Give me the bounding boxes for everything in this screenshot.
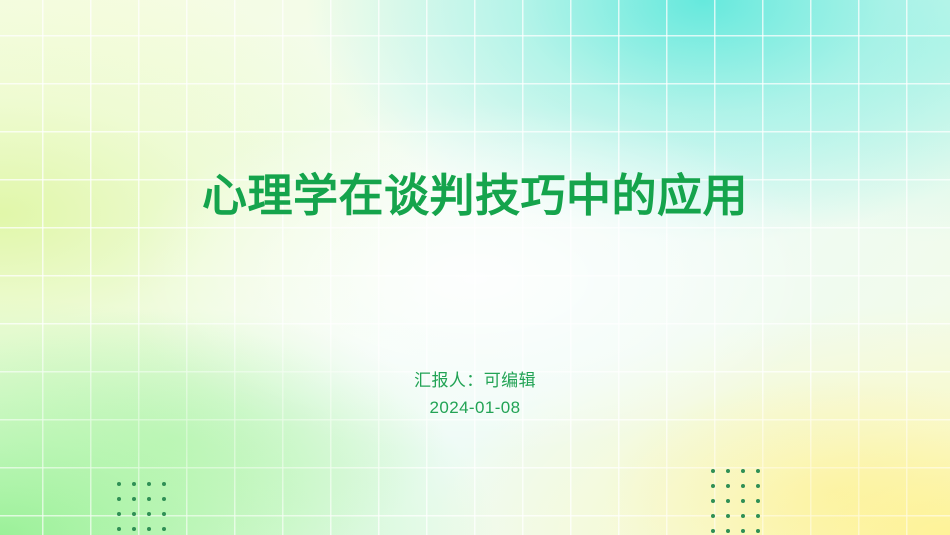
decorative-dot [741,514,745,518]
decorative-dot [147,527,151,531]
decorative-dot [756,484,760,488]
decorative-dot-grid-right [711,469,760,535]
decorative-dot [162,527,166,531]
decorative-dot [132,482,136,486]
decorative-dot [132,527,136,531]
decorative-dot [117,512,121,516]
presentation-title-slide: 心理学在谈判技巧中的应用 汇报人：可编辑 2024-01-08 [0,0,950,535]
decorative-dot [162,482,166,486]
decorative-dot [741,469,745,473]
decorative-dot [726,469,730,473]
decorative-dot [711,484,715,488]
decorative-dot [741,484,745,488]
decorative-dot [162,512,166,516]
decorative-dot [756,469,760,473]
decorative-dot [726,484,730,488]
decorative-dot [726,514,730,518]
decorative-dot [726,529,730,533]
decorative-dot [711,529,715,533]
background-grid-overlay [0,0,950,535]
decorative-dot [147,512,151,516]
decorative-dot [117,497,121,501]
decorative-dot-grid-left [117,482,166,531]
decorative-dot [711,499,715,503]
decorative-dot [756,529,760,533]
decorative-dot [132,497,136,501]
decorative-dot [117,482,121,486]
decorative-dot [756,499,760,503]
decorative-dot [162,497,166,501]
decorative-dot [147,497,151,501]
decorative-dot [117,527,121,531]
background-soft-glows [0,0,950,535]
decorative-dot [711,514,715,518]
slide-meta-block: 汇报人：可编辑 2024-01-08 [0,367,950,421]
decorative-dot [711,469,715,473]
decorative-dot [726,499,730,503]
decorative-dot [132,512,136,516]
decorative-dot [741,499,745,503]
page-title: 心理学在谈判技巧中的应用 [0,169,950,222]
decorative-dot [147,482,151,486]
background-center-wash [0,0,950,535]
presenter-label: 汇报人：可编辑 [0,367,950,394]
background-gradient-mesh [0,0,950,535]
presentation-date: 2024-01-08 [0,394,950,421]
decorative-dot [741,529,745,533]
decorative-dot [756,514,760,518]
